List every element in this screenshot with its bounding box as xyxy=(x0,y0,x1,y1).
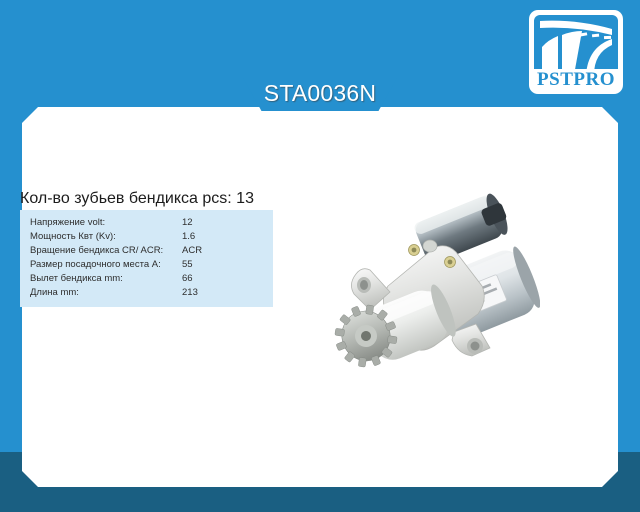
spec-label: Напряжение volt: xyxy=(30,216,182,230)
teeth-count-heading: Кол-во зубьев бендикса pcs: 13 xyxy=(20,190,254,208)
spec-label: Вылет бендикса mm: xyxy=(30,272,182,286)
spec-row: Напряжение volt:12 xyxy=(20,216,273,230)
spec-value: ACR xyxy=(182,244,202,258)
spec-row: Вращение бендикса CR/ ACR:ACR xyxy=(20,244,273,258)
logo-wordmark: PSTPRO xyxy=(537,69,615,90)
spec-label: Длина mm: xyxy=(30,286,182,300)
spec-label: Мощность Квт (Kv): xyxy=(30,230,182,244)
product-card-page: PSTPRO STA0036N Кол-во зубьев бендикса p… xyxy=(0,0,640,512)
spec-value: 1.6 xyxy=(182,230,195,244)
spec-label: Размер посадочного места A: xyxy=(30,258,182,272)
spec-row: Вылет бендикса mm:66 xyxy=(20,272,273,286)
spec-table: Напряжение volt:12Мощность Квт (Kv):1.6В… xyxy=(20,210,273,307)
spec-value: 12 xyxy=(182,216,193,230)
spec-label: Вращение бендикса CR/ ACR: xyxy=(30,244,182,258)
spec-value: 213 xyxy=(182,286,198,300)
spec-value: 66 xyxy=(182,272,193,286)
spec-row: Размер посадочного места A:55 xyxy=(20,258,273,272)
spec-row: Длина mm:213 xyxy=(20,286,273,300)
starter-motor-photo xyxy=(330,190,540,390)
pstpro-logo: PSTPRO xyxy=(528,9,624,95)
spec-value: 55 xyxy=(182,258,193,272)
page-title: STA0036N xyxy=(200,80,440,106)
spec-row: Мощность Квт (Kv):1.6 xyxy=(20,230,273,244)
